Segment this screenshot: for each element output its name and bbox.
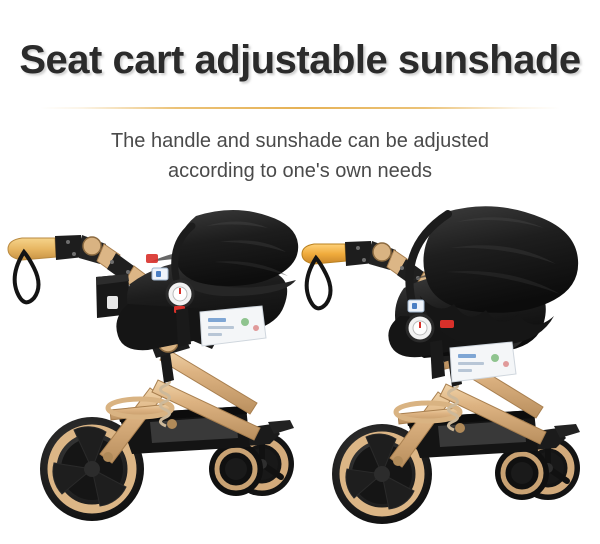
stroller-image-left-reclined — [0, 192, 300, 544]
stroller-left-svg — [0, 192, 300, 544]
rear-wheel-left-secondary — [209, 442, 263, 496]
rear-wheel-right-secondary — [495, 446, 549, 500]
subtitle: The handle and sunshade can be adjusted … — [0, 126, 600, 186]
gold-divider — [40, 107, 560, 109]
page-title: Seat cart adjustable sunshade — [0, 38, 600, 83]
info-sticker-right — [450, 342, 516, 382]
info-sticker-left — [200, 306, 266, 346]
product-photo-area — [0, 192, 600, 544]
stroller-image-right-upright — [300, 192, 600, 544]
subtitle-line-1: The handle and sunshade can be adjusted — [0, 126, 600, 156]
subtitle-line-2: according to one's own needs — [0, 156, 600, 186]
wrist-strap-right — [307, 258, 331, 308]
product-banner: Seat cart adjustable sunshade The handle… — [0, 0, 600, 544]
stroller-right-svg — [300, 192, 600, 544]
